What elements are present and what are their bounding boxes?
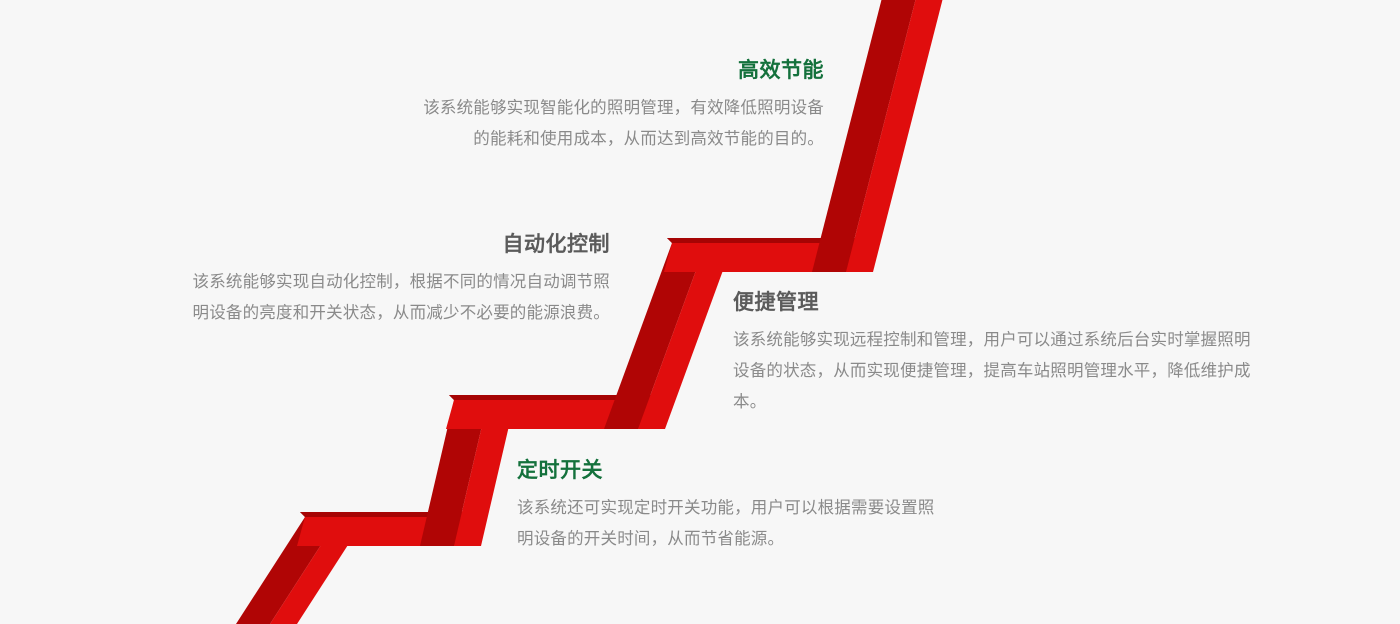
feature-body-convenient-management: 该系统能够实现远程控制和管理，用户可以通过系统后台实时掌握照明设备的状态，从而实… — [733, 325, 1253, 418]
feature-body-high-efficiency-energy-saving: 该系统能够实现智能化的照明管理，有效降低照明设备的能耗和使用成本，从而达到高效节… — [420, 93, 824, 155]
tread-3-top-edge — [667, 238, 846, 243]
feature-body-timed-switch: 该系统还可实现定时开关功能，用户可以根据需要设置照明设备的开关时间，从而节省能源… — [517, 493, 937, 555]
feature-heading-high-efficiency-energy-saving: 高效节能 — [420, 58, 824, 83]
feature-heading-convenient-management: 便捷管理 — [733, 290, 1253, 315]
feature-heading-timed-switch: 定时开关 — [517, 458, 937, 483]
feature-block-automatic-control: 自动化控制 该系统能够实现自动化控制，根据不同的情况自动调节照明设备的亮度和开关… — [178, 232, 610, 329]
feature-heading-automatic-control: 自动化控制 — [178, 232, 610, 257]
tread-2-top-edge — [449, 395, 638, 400]
feature-block-high-efficiency-energy-saving: 高效节能 该系统能够实现智能化的照明管理，有效降低照明设备的能耗和使用成本，从而… — [420, 58, 824, 155]
feature-body-automatic-control: 该系统能够实现自动化控制，根据不同的情况自动调节照明设备的亮度和开关状态，从而减… — [178, 267, 610, 329]
infographic-canvas: 高效节能 该系统能够实现智能化的照明管理，有效降低照明设备的能耗和使用成本，从而… — [0, 0, 1400, 624]
feature-block-convenient-management: 便捷管理 该系统能够实现远程控制和管理，用户可以通过系统后台实时掌握照明设备的状… — [733, 290, 1253, 418]
feature-block-timed-switch: 定时开关 该系统还可实现定时开关功能，用户可以根据需要设置照明设备的开关时间，从… — [517, 458, 937, 555]
